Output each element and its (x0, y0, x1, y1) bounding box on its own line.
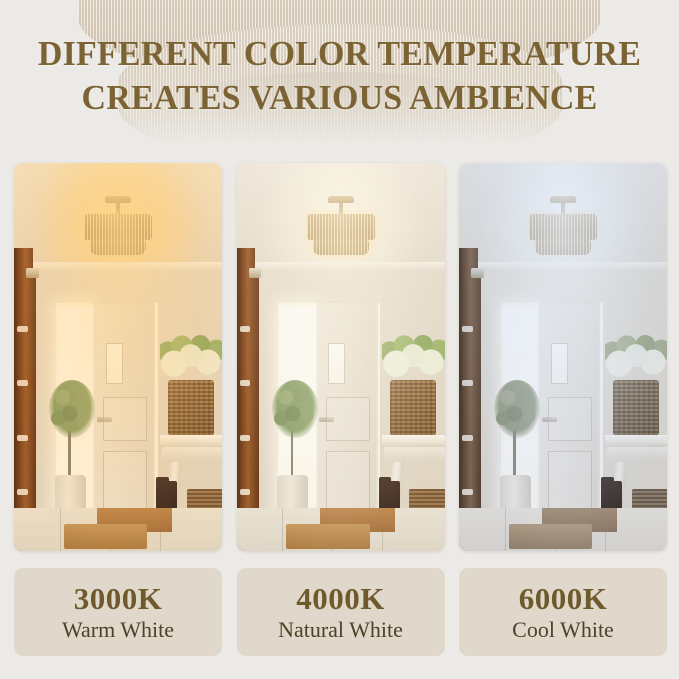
comparison-panel-row (14, 163, 667, 551)
label-card-row: 3000K Warm White 4000K Natural White 600… (14, 568, 667, 656)
color-temperature-bloom-cool (459, 163, 667, 551)
hallway-scene-cool (459, 163, 667, 551)
hallway-scene-natural (237, 163, 445, 551)
kelvin-value: 4000K (296, 582, 385, 616)
hallway-scene-warm (14, 163, 222, 551)
white-name: Warm White (62, 617, 174, 643)
white-name: Natural White (278, 617, 403, 643)
kelvin-value: 6000K (519, 582, 608, 616)
page-title: DIFFERENT COLOR TEMPERATURE CREATES VARI… (0, 32, 679, 120)
headline-line-2: CREATES VARIOUS AMBIENCE (10, 76, 669, 120)
kelvin-value: 3000K (74, 582, 163, 616)
color-temperature-bloom-warm (14, 163, 222, 551)
label-card-3000k[interactable]: 3000K Warm White (14, 568, 222, 656)
panel-3000k[interactable] (14, 163, 222, 551)
headline-line-1: DIFFERENT COLOR TEMPERATURE (10, 32, 669, 76)
panel-6000k[interactable] (459, 163, 667, 551)
label-card-6000k[interactable]: 6000K Cool White (459, 568, 667, 656)
panel-4000k[interactable] (237, 163, 445, 551)
color-temperature-bloom-natural (237, 163, 445, 551)
white-name: Cool White (512, 617, 614, 643)
label-card-4000k[interactable]: 4000K Natural White (237, 568, 445, 656)
